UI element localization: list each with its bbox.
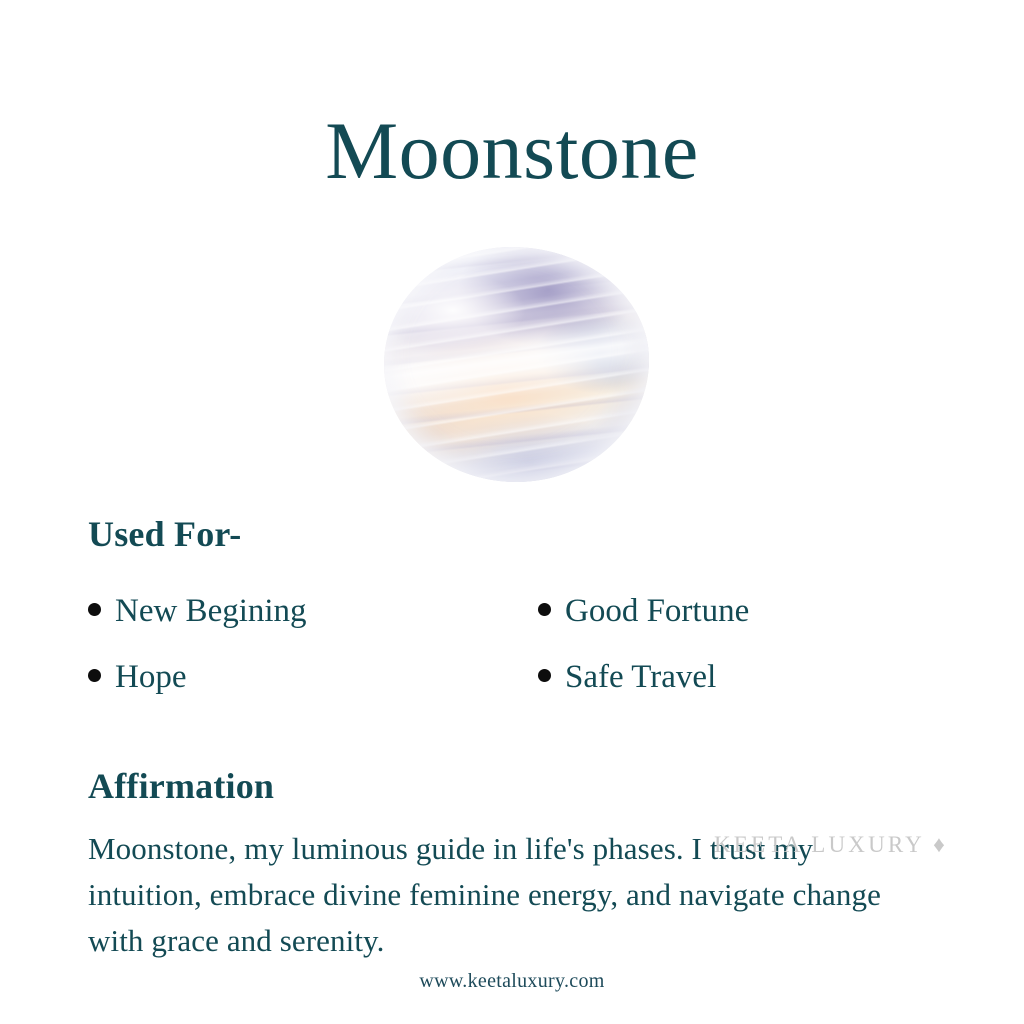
bullet-icon — [538, 669, 551, 682]
list-item-label: New Begining — [115, 595, 307, 628]
page-title: Moonstone — [0, 108, 1024, 194]
moonstone-image — [384, 247, 649, 482]
list-item-label: Safe Travel — [565, 661, 716, 694]
affirmation-text: Moonstone, my luminous guide in life's p… — [88, 826, 888, 964]
list-item: Safe Travel — [538, 661, 878, 694]
list-item: Hope — [88, 661, 538, 694]
moonstone-edge — [384, 247, 649, 482]
bullet-icon — [88, 603, 101, 616]
list-item: New Begining — [88, 595, 538, 628]
list-item: Good Fortune — [538, 595, 878, 628]
bullet-icon — [88, 669, 101, 682]
bullet-icon — [538, 603, 551, 616]
used-for-list: New Begining Good Fortune Hope Safe Trav… — [88, 595, 878, 727]
list-item-label: Hope — [115, 661, 186, 694]
footer-website-url: www.keetaluxury.com — [0, 970, 1024, 993]
affirmation-heading: Affirmation — [88, 765, 274, 807]
list-item-label: Good Fortune — [565, 595, 749, 628]
gemstone-info-card: Moonstone Used For- New Begining Good Fo… — [0, 0, 1024, 1024]
used-for-heading: Used For- — [88, 513, 241, 555]
